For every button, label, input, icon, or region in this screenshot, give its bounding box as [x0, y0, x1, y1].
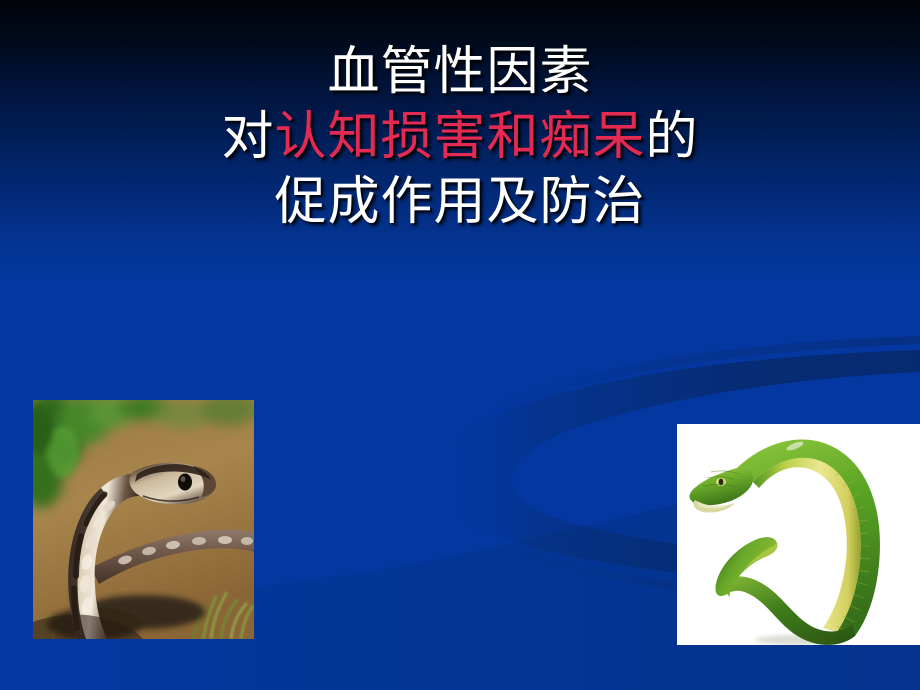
slide-title-block: 血管性因素 对认知损害和痴呆的 促成作用及防治	[0, 46, 920, 228]
title-line-3-text: 促成作用及防治	[274, 172, 645, 232]
title-line-2: 对认知损害和痴呆的	[0, 111, 920, 163]
title-line-2-highlight: 认知损害和痴呆	[274, 107, 645, 167]
title-line-2-suffix: 的	[646, 107, 699, 167]
title-line-1: 血管性因素	[0, 46, 920, 98]
green-snake-illustration	[677, 424, 920, 645]
presentation-slide: 血管性因素 对认知损害和痴呆的 促成作用及防治	[0, 0, 920, 690]
title-line-3: 促成作用及防治	[0, 176, 920, 228]
title-line-2-prefix: 对	[221, 107, 274, 167]
cobra-photograph	[33, 400, 254, 639]
title-line-1-text: 血管性因素	[327, 42, 592, 102]
